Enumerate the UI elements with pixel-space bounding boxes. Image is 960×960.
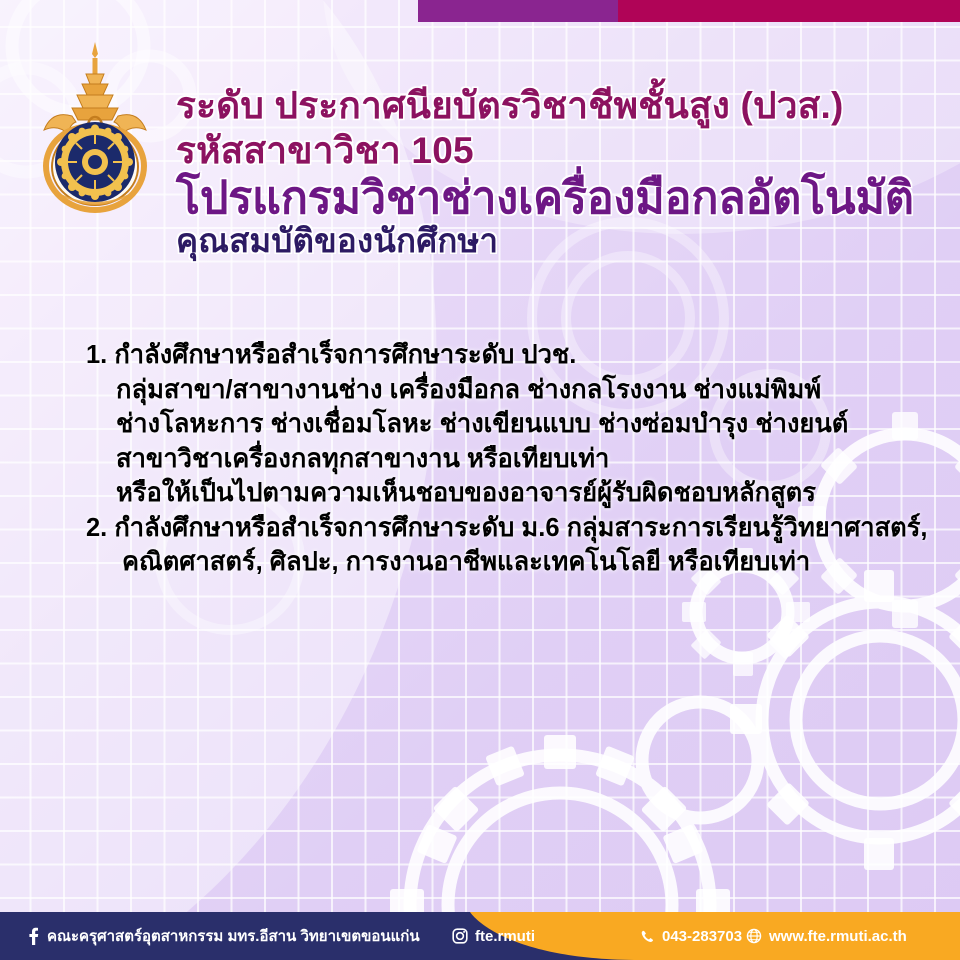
heading-code-line: รหัสสาขาวิชา 105 <box>176 131 960 170</box>
footer-contact-bar: คณะครุศาสตร์อุตสาหกรรม มทร.อีสาน วิทยาเข… <box>0 912 960 960</box>
rmuti-university-emblem <box>30 38 160 218</box>
top-accent-bar <box>418 0 960 22</box>
footer-website-label: www.fte.rmuti.ac.th <box>769 928 907 945</box>
phone-icon <box>640 929 655 944</box>
heading-block: ระดับ ประกาศนียบัตรวิชาชีพชั้นสูง (ปวส.)… <box>176 86 960 259</box>
footer-facebook-label: คณะครุศาสตร์อุตสาหกรรม มทร.อีสาน วิทยาเข… <box>47 924 420 948</box>
qualifications-list: 1. กำลังศึกษาหรือสำเร็จการศึกษาระดับ ปวช… <box>86 338 952 580</box>
heading-program-line: โปรแกรมวิชาช่างเครื่องมือกลอัตโนมัติ <box>176 174 960 222</box>
list-item: 2. กำลังศึกษาหรือสำเร็จการศึกษาระดับ ม.6… <box>86 511 952 546</box>
footer-instagram[interactable]: fte.rmuti <box>452 912 535 960</box>
heading-section-title: คุณสมบัติของนักศึกษา <box>176 224 960 259</box>
globe-icon <box>746 928 762 944</box>
footer-instagram-label: fte.rmuti <box>475 928 535 945</box>
footer-phone-label: 043-283703 <box>662 928 742 945</box>
footer-phone[interactable]: 043-283703 <box>640 912 742 960</box>
heading-level-line: ระดับ ประกาศนียบัตรวิชาชีพชั้นสูง (ปวส.) <box>176 86 960 125</box>
top-bar-segment-magenta <box>618 0 960 22</box>
footer-facebook[interactable]: คณะครุศาสตร์อุตสาหกรรม มทร.อีสาน วิทยาเข… <box>26 912 420 960</box>
facebook-icon <box>26 927 40 945</box>
list-item: สาขาวิชาเครื่องกลทุกสาขางาน หรือเทียบเท่… <box>86 442 952 477</box>
instagram-icon <box>452 928 468 944</box>
list-item: หรือให้เป็นไปตามความเห็นชอบของอาจารย์ผู้… <box>86 476 952 511</box>
list-item: กลุ่มสาขา/สาขางานช่าง เครื่องมือกล ช่างก… <box>86 373 952 408</box>
list-item: 1. กำลังศึกษาหรือสำเร็จการศึกษาระดับ ปวช… <box>86 338 952 373</box>
footer-website[interactable]: www.fte.rmuti.ac.th <box>746 912 907 960</box>
top-bar-segment-purple <box>418 0 618 22</box>
list-item: คณิตศาสตร์, ศิลปะ, การงานอาชีพและเทคโนโล… <box>86 545 952 580</box>
poster-canvas: ระดับ ประกาศนียบัตรวิชาชีพชั้นสูง (ปวส.)… <box>0 0 960 960</box>
list-item: ช่างโลหะการ ช่างเชื่อมโลหะ ช่างเขียนแบบ … <box>86 407 952 442</box>
